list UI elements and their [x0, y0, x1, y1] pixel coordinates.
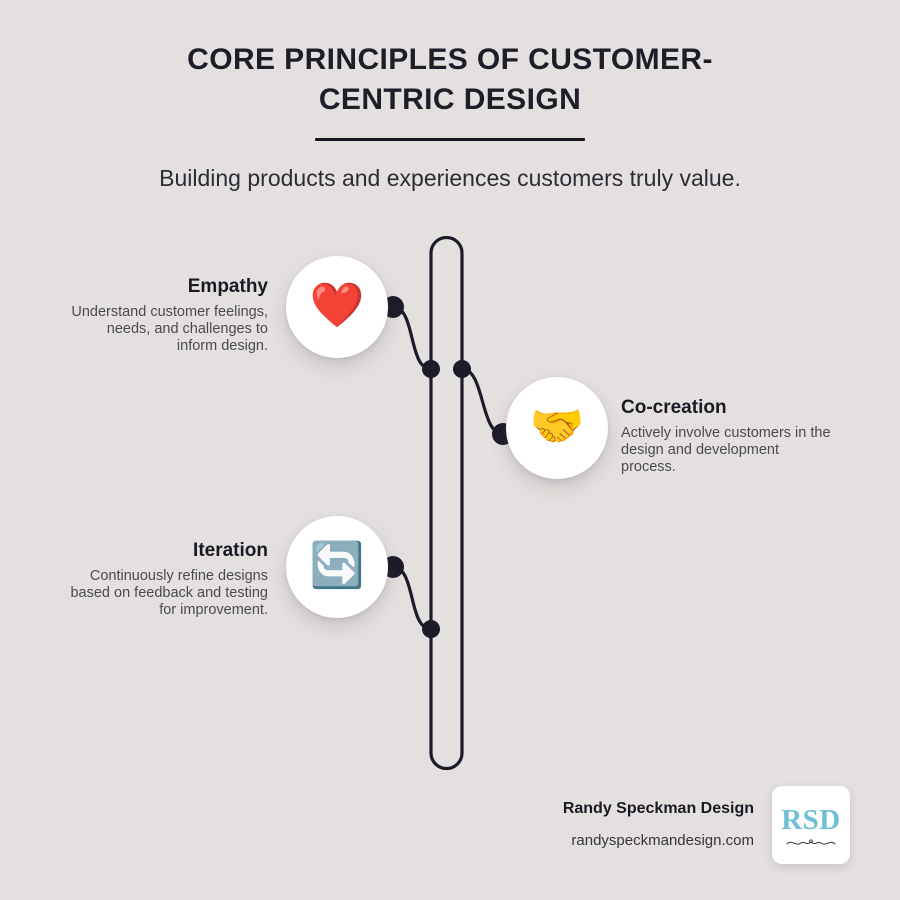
- connector-empathy: [393, 307, 431, 369]
- principle-title-iteration: Iteration: [60, 540, 268, 562]
- connector-dot-empathy-spine: [422, 360, 440, 378]
- header: Core Principles of Customer-Centric Desi…: [0, 40, 900, 193]
- connector-iteration: [393, 567, 431, 629]
- connector-dot-cocreation-spine: [453, 360, 471, 378]
- connector-dot-iteration-spine: [422, 620, 440, 638]
- refresh-cycle-icon: 🔄: [310, 544, 365, 588]
- principle-empathy: Empathy Understand customer feelings, ne…: [70, 276, 268, 355]
- principle-title-co-creation: Co-creation: [621, 397, 836, 419]
- principle-description-co-creation: Actively involve customers in the design…: [621, 425, 836, 476]
- principle-description-iteration: Continuously refine designs based on fee…: [60, 568, 268, 619]
- page-title: Core Principles of Customer-Centric Desi…: [120, 40, 780, 120]
- principle-co-creation: Co-creation Actively involve customers i…: [621, 397, 836, 476]
- heart-icon: ❤️: [310, 284, 365, 328]
- brand-url[interactable]: randyspeckmandesign.com: [563, 830, 754, 852]
- principle-title-empathy: Empathy: [70, 276, 268, 298]
- footer-branding: Randy Speckman Design randyspeckmandesig…: [460, 785, 850, 865]
- infographic-canvas: Core Principles of Customer-Centric Desi…: [0, 0, 900, 900]
- brand-logo-flourish-icon: [785, 838, 837, 848]
- footer-text: Randy Speckman Design randyspeckmandesig…: [563, 798, 754, 852]
- icon-bubble-iteration: 🔄: [286, 516, 388, 618]
- page-subtitle: Building products and experiences custom…: [50, 163, 850, 193]
- spine-pill: [431, 238, 462, 769]
- brand-logo: RSD: [772, 786, 850, 864]
- title-divider: [315, 138, 585, 141]
- connector-cocreation: [462, 369, 503, 434]
- brand-logo-letters: RSD: [781, 805, 841, 835]
- icon-bubble-empathy: ❤️: [286, 256, 388, 358]
- icon-bubble-co-creation: 🤝: [506, 377, 608, 479]
- handshake-icon: 🤝: [530, 405, 585, 449]
- brand-name: Randy Speckman Design: [563, 798, 754, 820]
- principle-description-empathy: Understand customer feelings, needs, and…: [70, 304, 268, 355]
- principle-iteration: Iteration Continuously refine designs ba…: [60, 540, 268, 619]
